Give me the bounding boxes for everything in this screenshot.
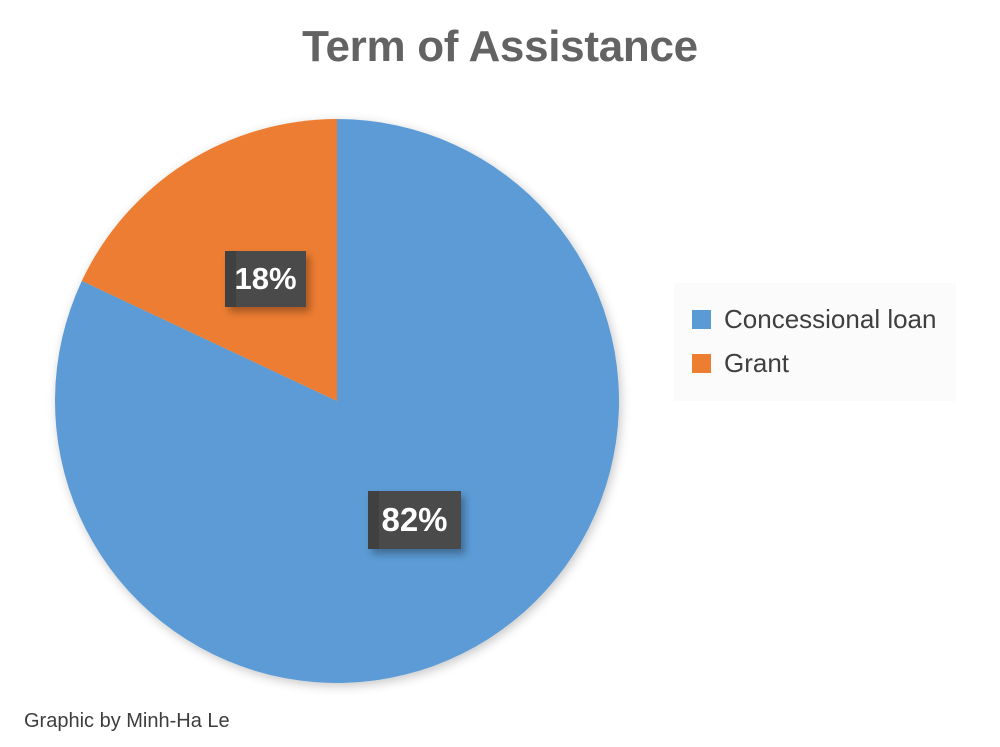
- legend-item-grant: Grant: [692, 341, 956, 385]
- pie-chart-figure: Term of Assistance 18% 82% Concessional …: [0, 0, 1000, 747]
- chart-title: Term of Assistance: [0, 22, 1000, 73]
- pie-plot-area: [55, 118, 619, 684]
- data-label-concessional-loan-text: 82%: [381, 501, 447, 539]
- data-label-concessional-loan: 82%: [368, 491, 461, 549]
- pie-svg: [55, 118, 619, 684]
- legend-swatch-orange-icon: [692, 354, 711, 373]
- legend-item-concessional-loan: Concessional loan: [692, 297, 956, 341]
- legend-swatch-blue-icon: [692, 310, 711, 329]
- graphic-credit: Graphic by Minh-Ha Le: [24, 710, 230, 733]
- legend-label-grant: Grant: [724, 350, 789, 376]
- chart-legend: Concessional loan Grant: [674, 283, 956, 401]
- data-label-grant-text: 18%: [234, 261, 296, 297]
- legend-label-concessional-loan: Concessional loan: [724, 306, 936, 332]
- data-label-grant: 18%: [225, 251, 306, 307]
